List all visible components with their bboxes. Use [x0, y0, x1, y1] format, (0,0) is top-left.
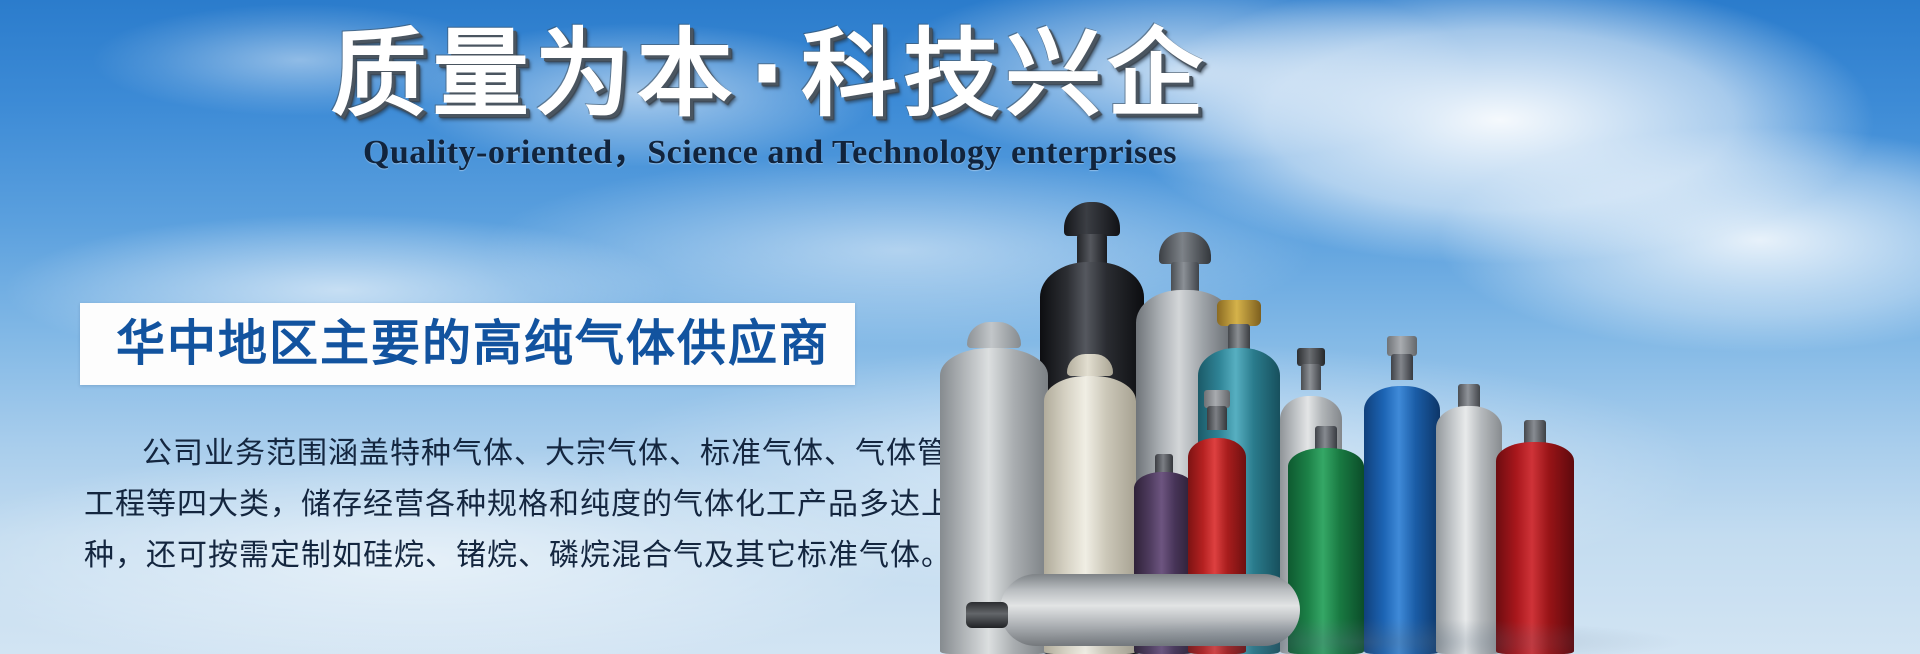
promotional-banner: 质量为本·科技兴企 Quality-oriented，Science and T…	[0, 0, 1920, 654]
cylinder-group-shadow	[940, 584, 1920, 654]
description-paragraph: 公司业务范围涵盖特种气体、大宗气体、标准气体、气体管道 工程等四大类，储存经营各…	[84, 428, 874, 581]
headline-separator-dot: ·	[739, 18, 801, 130]
paragraph-line-2: 工程等四大类，储存经营各种规格和纯度的气体化工产品多达上百	[84, 479, 874, 530]
highlight-text: 华中地区主要的高纯气体供应商	[116, 316, 830, 372]
headline-left-text: 质量为本	[331, 18, 739, 130]
paragraph-line-3: 种，还可按需定制如硅烷、锗烷、磷烷混合气及其它标准气体。	[84, 530, 874, 581]
gas-cylinder-group-photo	[940, 0, 1920, 654]
highlight-box: 华中地区主要的高纯气体供应商	[80, 303, 855, 385]
paragraph-line-1: 公司业务范围涵盖特种气体、大宗气体、标准气体、气体管道	[84, 428, 874, 479]
